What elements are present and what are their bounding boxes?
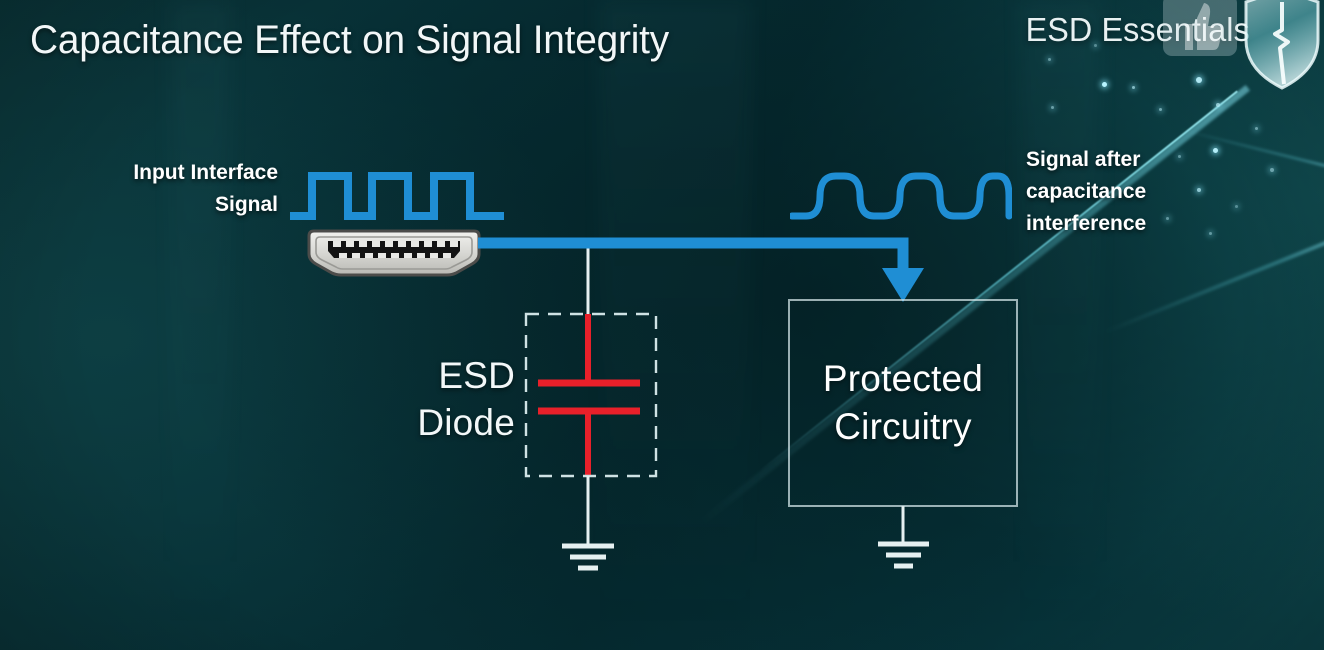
slide-canvas: Capacitance Effect on Signal Integrity E… [0, 0, 1324, 650]
ground-symbol-icon [878, 544, 929, 566]
arrow-down-icon [882, 268, 924, 302]
protected-circuitry-box: Protected Circuitry [788, 299, 1018, 507]
circuit-schematic [0, 0, 1324, 650]
signal-trace [478, 243, 903, 278]
ground-symbol-icon [562, 546, 614, 568]
protected-circuitry-label: Protected Circuitry [823, 355, 983, 451]
